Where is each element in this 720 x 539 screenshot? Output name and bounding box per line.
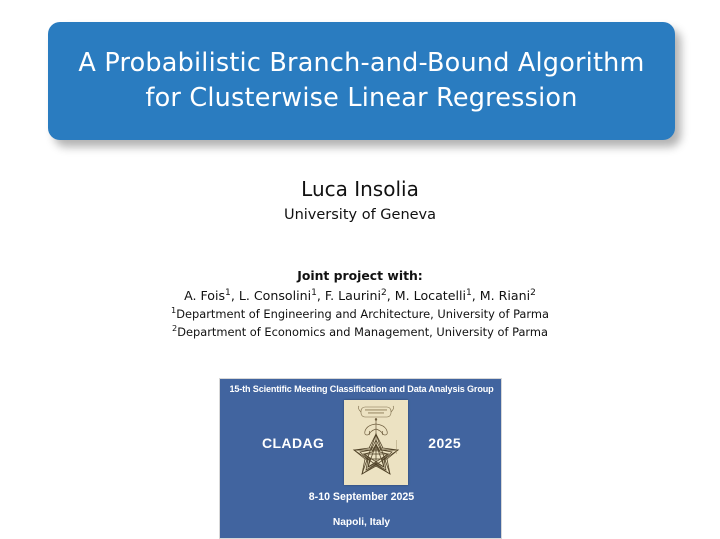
joint-authors-line: A. Fois1, L. Consolini1, F. Laurini2, M.… (0, 286, 720, 305)
joint-author-4-name: M. Locatelli (395, 288, 466, 303)
conference-logo-header: 15-th Scientific Meeting Classification … (220, 384, 502, 394)
joint-author-3-name: F. Laurini (325, 288, 381, 303)
title-line-1: A Probabilistic Branch-and-Bound Algorit… (78, 46, 644, 81)
joint-author-2-name: L. Consolini (239, 288, 311, 303)
joint-project-block: Joint project with: A. Fois1, L. Consoli… (0, 266, 720, 341)
author-block: Luca Insolia University of Geneva (0, 176, 720, 226)
joint-author-4-marker: 1 (466, 288, 472, 298)
title-banner: A Probabilistic Branch-and-Bound Algorit… (48, 22, 675, 140)
conference-logo-middle-row: CLADAG (220, 401, 502, 484)
conference-logo: 15-th Scientific Meeting Classification … (219, 378, 502, 539)
affiliation-2: 2Department of Economics and Management,… (0, 323, 720, 341)
conference-acronym: CLADAG (262, 435, 324, 451)
author-affiliation: University of Geneva (0, 204, 720, 226)
joint-project-heading: Joint project with: (0, 266, 720, 285)
conference-dates: 8-10 September 2025 (220, 491, 502, 503)
conference-year: 2025 (428, 435, 461, 451)
conference-location: Napoli, Italy (220, 517, 502, 528)
joint-author-1-marker: 1 (225, 288, 231, 298)
author-name: Luca Insolia (0, 176, 720, 203)
affiliation-2-text: Department of Economics and Management, … (177, 325, 548, 339)
joint-author-3-marker: 2 (381, 288, 387, 298)
title-line-2: for Clusterwise Linear Regression (145, 81, 577, 116)
joint-author-5-marker: 2 (530, 288, 536, 298)
joint-author-1-name: A. Fois (184, 288, 225, 303)
affiliation-1: 1Department of Engineering and Architect… (0, 305, 720, 323)
joint-author-5-name: M. Riani (480, 288, 530, 303)
book-cover-star-polyhedron-icon (344, 400, 408, 485)
affiliation-1-text: Department of Engineering and Architectu… (176, 307, 549, 321)
joint-author-2-marker: 1 (311, 288, 317, 298)
